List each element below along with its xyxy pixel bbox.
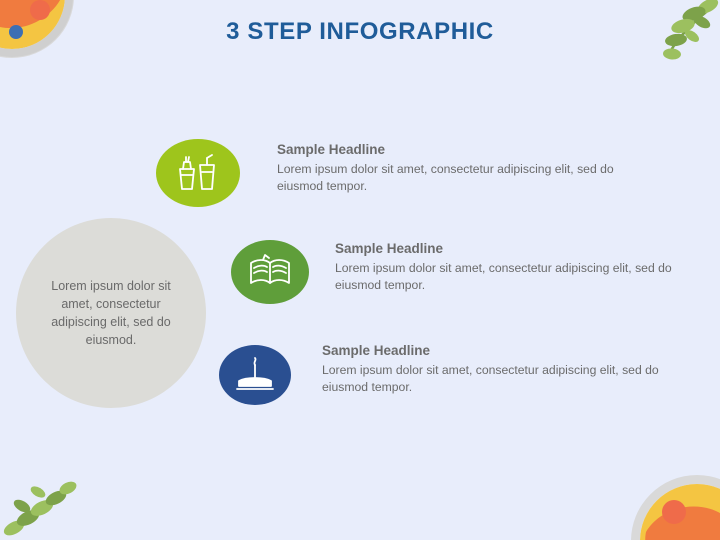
step-1-headline: Sample Headline xyxy=(277,142,647,157)
step-2-body: Lorem ipsum dolor sit amet, consectetur … xyxy=(335,260,705,295)
step-2-headline: Sample Headline xyxy=(335,241,705,256)
step-3-text-block: Sample Headline Lorem ipsum dolor sit am… xyxy=(322,343,702,397)
step-1-text-block: Sample Headline Lorem ipsum dolor sit am… xyxy=(277,142,647,196)
step-1-body: Lorem ipsum dolor sit amet, consectetur … xyxy=(277,161,647,196)
step-3-body: Lorem ipsum dolor sit amet, consectetur … xyxy=(322,362,702,397)
step-1-icon-badge[interactable] xyxy=(156,139,240,207)
summary-circle-text: Lorem ipsum dolor sit amet, consectetur … xyxy=(16,277,206,350)
drinks-and-fries-icon xyxy=(174,151,222,195)
birthday-cake-icon xyxy=(234,355,276,395)
fruit-bowl-bottom-right-decoration xyxy=(602,446,720,540)
page-title: 3 STEP INFOGRAPHIC xyxy=(0,18,720,46)
step-3-icon-badge[interactable] xyxy=(219,345,291,405)
step-3-headline: Sample Headline xyxy=(322,343,702,358)
step-2-text-block: Sample Headline Lorem ipsum dolor sit am… xyxy=(335,241,705,295)
slide-canvas: 3 STEP INFOGRAPHIC Lorem ipsum dolor sit… xyxy=(0,0,720,540)
step-2-icon-badge[interactable] xyxy=(231,240,309,304)
leaf-branch-bottom-left-decoration xyxy=(0,456,100,540)
summary-circle: Lorem ipsum dolor sit amet, consectetur … xyxy=(16,218,206,408)
open-book-icon xyxy=(247,251,293,293)
